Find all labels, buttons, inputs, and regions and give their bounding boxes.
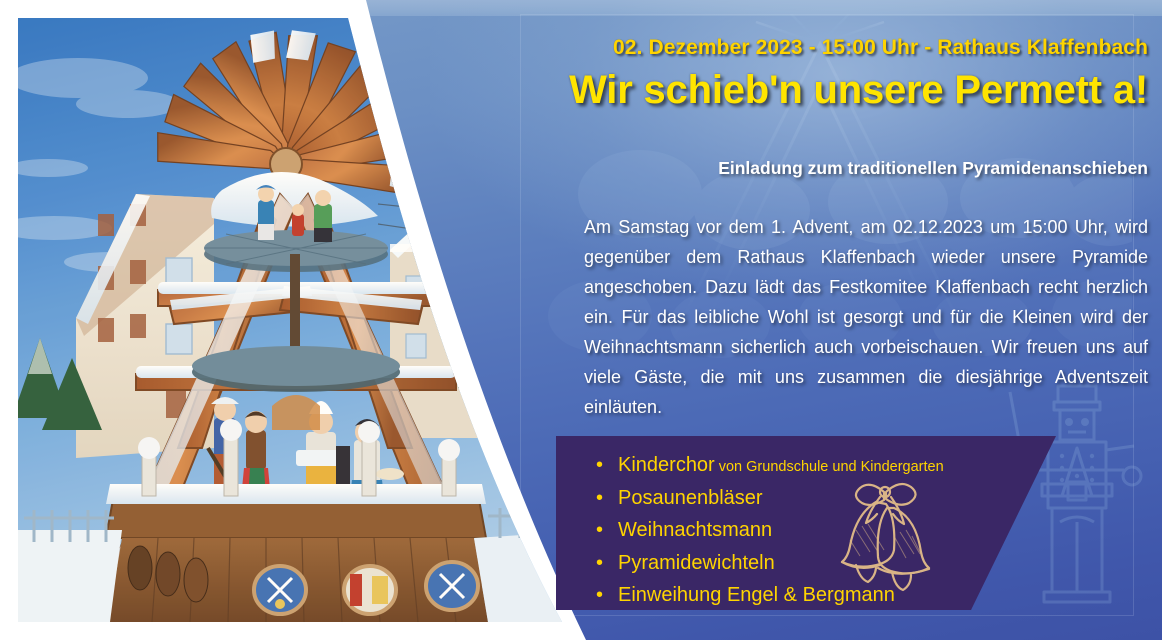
event-poster: 02. Dezember 2023 - 15:00 Uhr - Rathaus … [0,0,1162,640]
programme-item-label: Posaunenbläser [618,487,763,509]
bullet-glyph: • [596,450,603,481]
programme-item-label: Pyramidewichteln [618,552,775,574]
programme-item-label: Kinderchor [618,454,715,476]
list-item: • Einweihung Engel & Bergmann [592,580,1022,613]
bullet-glyph: • [596,515,603,546]
event-kicker: 02. Dezember 2023 - 15:00 Uhr - Rathaus … [528,36,1148,60]
list-item: • Posaunenbläser [592,483,1022,516]
top-light-strip [0,0,1162,16]
list-item: • Kinderchor von Grundschule und Kinderg… [592,450,1022,483]
programme-list: • Kinderchor von Grundschule und Kinderg… [592,450,1022,613]
bullet-glyph: • [596,548,603,579]
programme-item-note: von Grundschule und Kindergarten [715,459,944,475]
bells-icon [826,474,944,592]
invitation-subtitle: Einladung zum traditionellen Pyramidenan… [548,158,1148,179]
bullet-glyph: • [596,580,603,611]
invitation-body-text: Am Samstag vor dem 1. Advent, am 02.12.2… [584,212,1148,422]
list-item: • Weihnachtsmann [592,515,1022,548]
bullet-glyph: • [596,483,603,514]
page-title: Wir schieb'n unsere Permett a! [500,68,1148,113]
programme-item-label: Weihnachtsmann [618,519,772,541]
list-item: • Pyramidewichteln [592,548,1022,581]
